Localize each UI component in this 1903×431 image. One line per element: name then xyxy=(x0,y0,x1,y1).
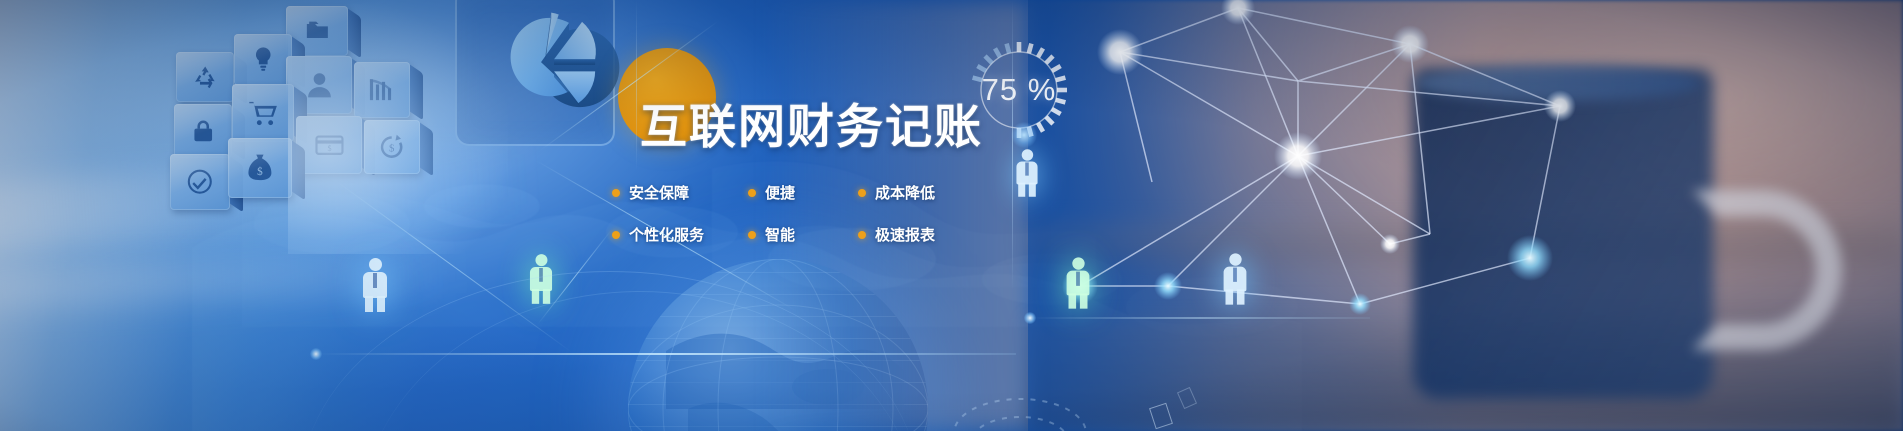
promo-banner: $ $ xyxy=(0,0,1903,431)
background-vignette xyxy=(0,0,1903,431)
